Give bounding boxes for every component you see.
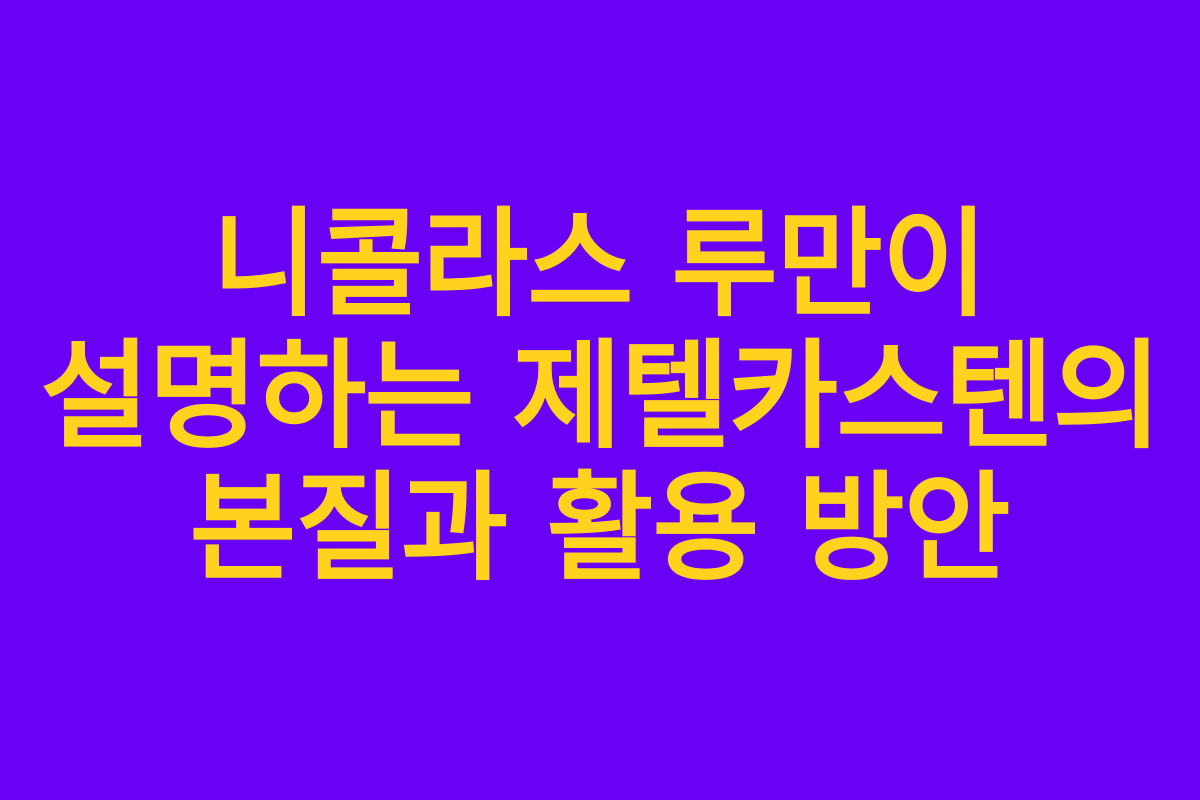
headline-line-1: 니콜라스 루만이 <box>0 198 1200 330</box>
title-card: 니콜라스 루만이 설명하는 제텔카스텐의 본질과 활용 방안 <box>0 0 1200 800</box>
headline-line-3: 본질과 활용 방안 <box>0 462 1200 594</box>
headline-line-2: 설명하는 제텔카스텐의 <box>0 330 1200 462</box>
headline-block: 니콜라스 루만이 설명하는 제텔카스텐의 본질과 활용 방안 <box>0 198 1200 594</box>
